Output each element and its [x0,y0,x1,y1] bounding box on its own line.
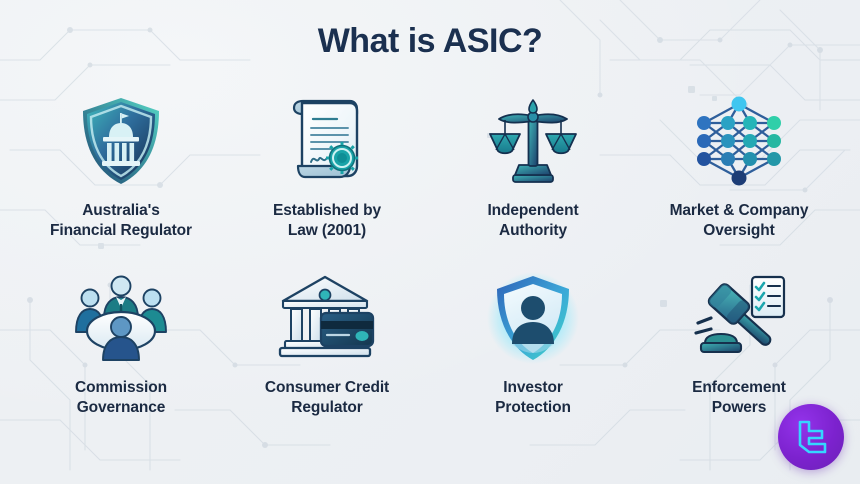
feature-item-investor-protection[interactable]: Investor Protection [430,267,636,444]
feature-label-line2: Governance [75,398,167,418]
feature-label-line1: Enforcement [692,378,786,398]
feature-label: Enforcement Powers [692,378,786,418]
feature-label: Investor Protection [495,378,571,418]
feature-label-line1: Market & Company [670,201,809,221]
feature-item-commission-governance[interactable]: Commission Governance [18,267,224,444]
feature-label: Independent Authority [487,201,578,241]
feature-item-consumer-credit-regulator[interactable]: Consumer Credit Regulator [224,267,430,444]
brand-logo[interactable] [778,404,844,470]
title-container: What is ASIC? [0,22,860,61]
network-nodes-icon [688,90,790,192]
feature-item-established-by-law[interactable]: Established by Law (2001) [224,90,430,267]
feature-label-line2: Financial Regulator [50,221,192,241]
feature-label-line1: Commission [75,378,167,398]
feature-label: Commission Governance [75,378,167,418]
feature-label-line1: Consumer Credit [265,378,389,398]
feature-label: Australia's Financial Regulator [50,201,192,241]
feature-label-line2: Law (2001) [273,221,381,241]
brand-mark-icon [791,417,831,457]
feature-label-line2: Oversight [670,221,809,241]
feature-label-line2: Protection [495,398,571,418]
feature-item-independent-authority[interactable]: Independent Authority [430,90,636,267]
feature-label: Established by Law (2001) [273,201,381,241]
feature-label-line2: Powers [692,398,786,418]
bank-credit-card-icon [276,267,378,369]
scroll-seal-icon [276,90,378,192]
feature-label-line2: Authority [487,221,578,241]
gavel-checklist-icon [688,267,790,369]
scales-of-justice-icon [482,90,584,192]
shield-person-icon [482,267,584,369]
feature-label: Consumer Credit Regulator [265,378,389,418]
feature-item-australias-financial-regulator[interactable]: Australia's Financial Regulator [18,90,224,267]
people-roundtable-icon [70,267,172,369]
feature-item-market-company-oversight[interactable]: Market & Company Oversight [636,90,842,267]
infographic-slide: What is ASIC? [0,0,860,484]
feature-label-line2: Regulator [265,398,389,418]
shield-parliament-icon [70,90,172,192]
feature-label-line1: Established by [273,201,381,221]
page-title: What is ASIC? [318,22,543,61]
feature-label: Market & Company Oversight [670,201,809,241]
feature-grid: Australia's Financial Regulator [18,90,842,444]
feature-label-line1: Australia's [50,201,192,221]
feature-label-line1: Independent [487,201,578,221]
feature-label-line1: Investor [495,378,571,398]
